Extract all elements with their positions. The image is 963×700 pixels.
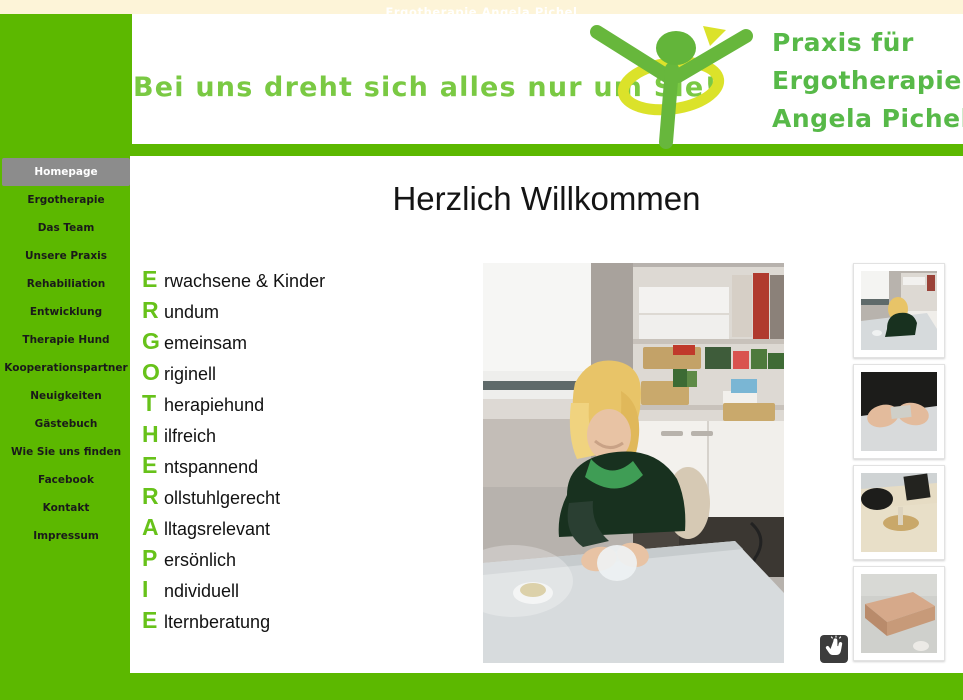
acrostic-letter: E: [142, 266, 164, 293]
thumbnail-hands-closeup[interactable]: [853, 364, 945, 459]
thumbnail-spinning-top-image: [861, 473, 937, 552]
sidebar-item-neuigkeiten[interactable]: Neuigkeiten: [2, 382, 130, 410]
sidebar-item-g-stebuch[interactable]: Gästebuch: [2, 410, 130, 438]
acrostic-text: emeinsam: [164, 333, 247, 354]
acrostic-letter: E: [142, 607, 164, 634]
acrostic-row: Erwachsene & Kinder: [142, 266, 482, 297]
thumbnail-spinning-top[interactable]: [853, 465, 945, 560]
sidebar-item-entwicklung[interactable]: Entwicklung: [2, 298, 130, 326]
header-underline-bar: [129, 144, 963, 156]
sidebar-item-kontakt[interactable]: Kontakt: [2, 494, 130, 522]
page-title: Herzlich Willkommen: [130, 180, 963, 218]
acrostic-text: lternberatung: [164, 612, 270, 633]
acrostic-text: herapiehund: [164, 395, 264, 416]
person-spinning-ring-logo: [583, 14, 768, 150]
ergotherapie-acrostic-list: Erwachsene & KinderRundumGemeinsamOrigin…: [142, 266, 482, 638]
acrostic-text: ersönlich: [164, 550, 236, 571]
acrostic-text: undum: [164, 302, 219, 323]
acrostic-text: ntspannend: [164, 457, 258, 478]
footer-text: Ergotherapie Angela Pichel: [0, 5, 963, 19]
acrostic-row: Elternberatung: [142, 607, 482, 638]
acrostic-letter: A: [142, 514, 164, 541]
sidebar-item-das-team[interactable]: Das Team: [2, 214, 130, 242]
sidebar-item-ergotherapie[interactable]: Ergotherapie: [2, 186, 130, 214]
acrostic-letter: O: [142, 359, 164, 386]
acrostic-text: ilfreich: [164, 426, 216, 447]
acrostic-letter: T: [142, 390, 164, 417]
acrostic-letter: E: [142, 452, 164, 479]
thumbnail-room-overview[interactable]: [853, 263, 945, 358]
acrostic-row: Rollstuhlgerecht: [142, 483, 482, 514]
acrostic-letter: I: [142, 576, 164, 603]
sidebar-item-unsere-praxis[interactable]: Unsere Praxis: [2, 242, 130, 270]
acrostic-row: Therapiehund: [142, 390, 482, 421]
thumbnail-wooden-board[interactable]: [853, 566, 945, 661]
acrostic-row: Entspannend: [142, 452, 482, 483]
acrostic-row: Rundum: [142, 297, 482, 328]
acrostic-text: ndividuell: [164, 581, 239, 602]
site-tagline: Bei uns dreht sich alles nur um Sie!: [133, 72, 623, 103]
acrostic-letter: H: [142, 421, 164, 448]
pointing-hand-cursor-icon[interactable]: [820, 635, 848, 663]
acrostic-letter: R: [142, 297, 164, 324]
acrostic-letter: R: [142, 483, 164, 510]
sidebar-item-kooperationspartner[interactable]: Kooperationspartner: [2, 354, 130, 382]
content-panel: Herzlich Willkommen Erwachsene & KinderR…: [130, 156, 963, 673]
thumbnail-wooden-board-image: [861, 574, 937, 653]
thumbnail-gallery: [853, 263, 945, 667]
brand-line-3: Angela Pichel: [772, 100, 962, 138]
acrostic-row: Persönlich: [142, 545, 482, 576]
sidebar-nav: HomepageErgotherapieDas TeamUnsere Praxi…: [0, 158, 132, 550]
page-root: Bei uns dreht sich alles nur um Sie! Pra…: [0, 0, 963, 700]
sidebar-item-rehabiliation[interactable]: Rehabiliation: [2, 270, 130, 298]
brand-line-1: Praxis für: [772, 24, 962, 62]
sidebar-item-wie-sie-uns-finden[interactable]: Wie Sie uns finden: [2, 438, 130, 466]
thumbnail-room-overview-image: [861, 271, 937, 350]
acrostic-row: Hilfreich: [142, 421, 482, 452]
footer-bar: [0, 673, 963, 700]
acrostic-letter: P: [142, 545, 164, 572]
acrostic-row: Alltagsrelevant: [142, 514, 482, 545]
thumbnail-hands-closeup-image: [861, 372, 937, 451]
acrostic-text: ollstuhlgerecht: [164, 488, 280, 509]
sidebar-item-impressum[interactable]: Impressum: [2, 522, 130, 550]
sidebar-item-facebook[interactable]: Facebook: [2, 466, 130, 494]
sidebar-item-therapie-hund[interactable]: Therapie Hund: [2, 326, 130, 354]
sidebar-item-homepage[interactable]: Homepage: [2, 158, 130, 186]
acrostic-text: riginell: [164, 364, 216, 385]
acrostic-letter: G: [142, 328, 164, 355]
acrostic-row: Originell: [142, 359, 482, 390]
acrostic-text: lltagsrelevant: [164, 519, 270, 540]
brand-name-block: Praxis für Ergotherapie Angela Pichel: [772, 24, 962, 138]
brand-line-2: Ergotherapie: [772, 62, 962, 100]
therapy-session-photo[interactable]: [483, 263, 784, 663]
acrostic-row: Gemeinsam: [142, 328, 482, 359]
acrostic-text: rwachsene & Kinder: [164, 271, 325, 292]
acrostic-row: Individuell: [142, 576, 482, 607]
